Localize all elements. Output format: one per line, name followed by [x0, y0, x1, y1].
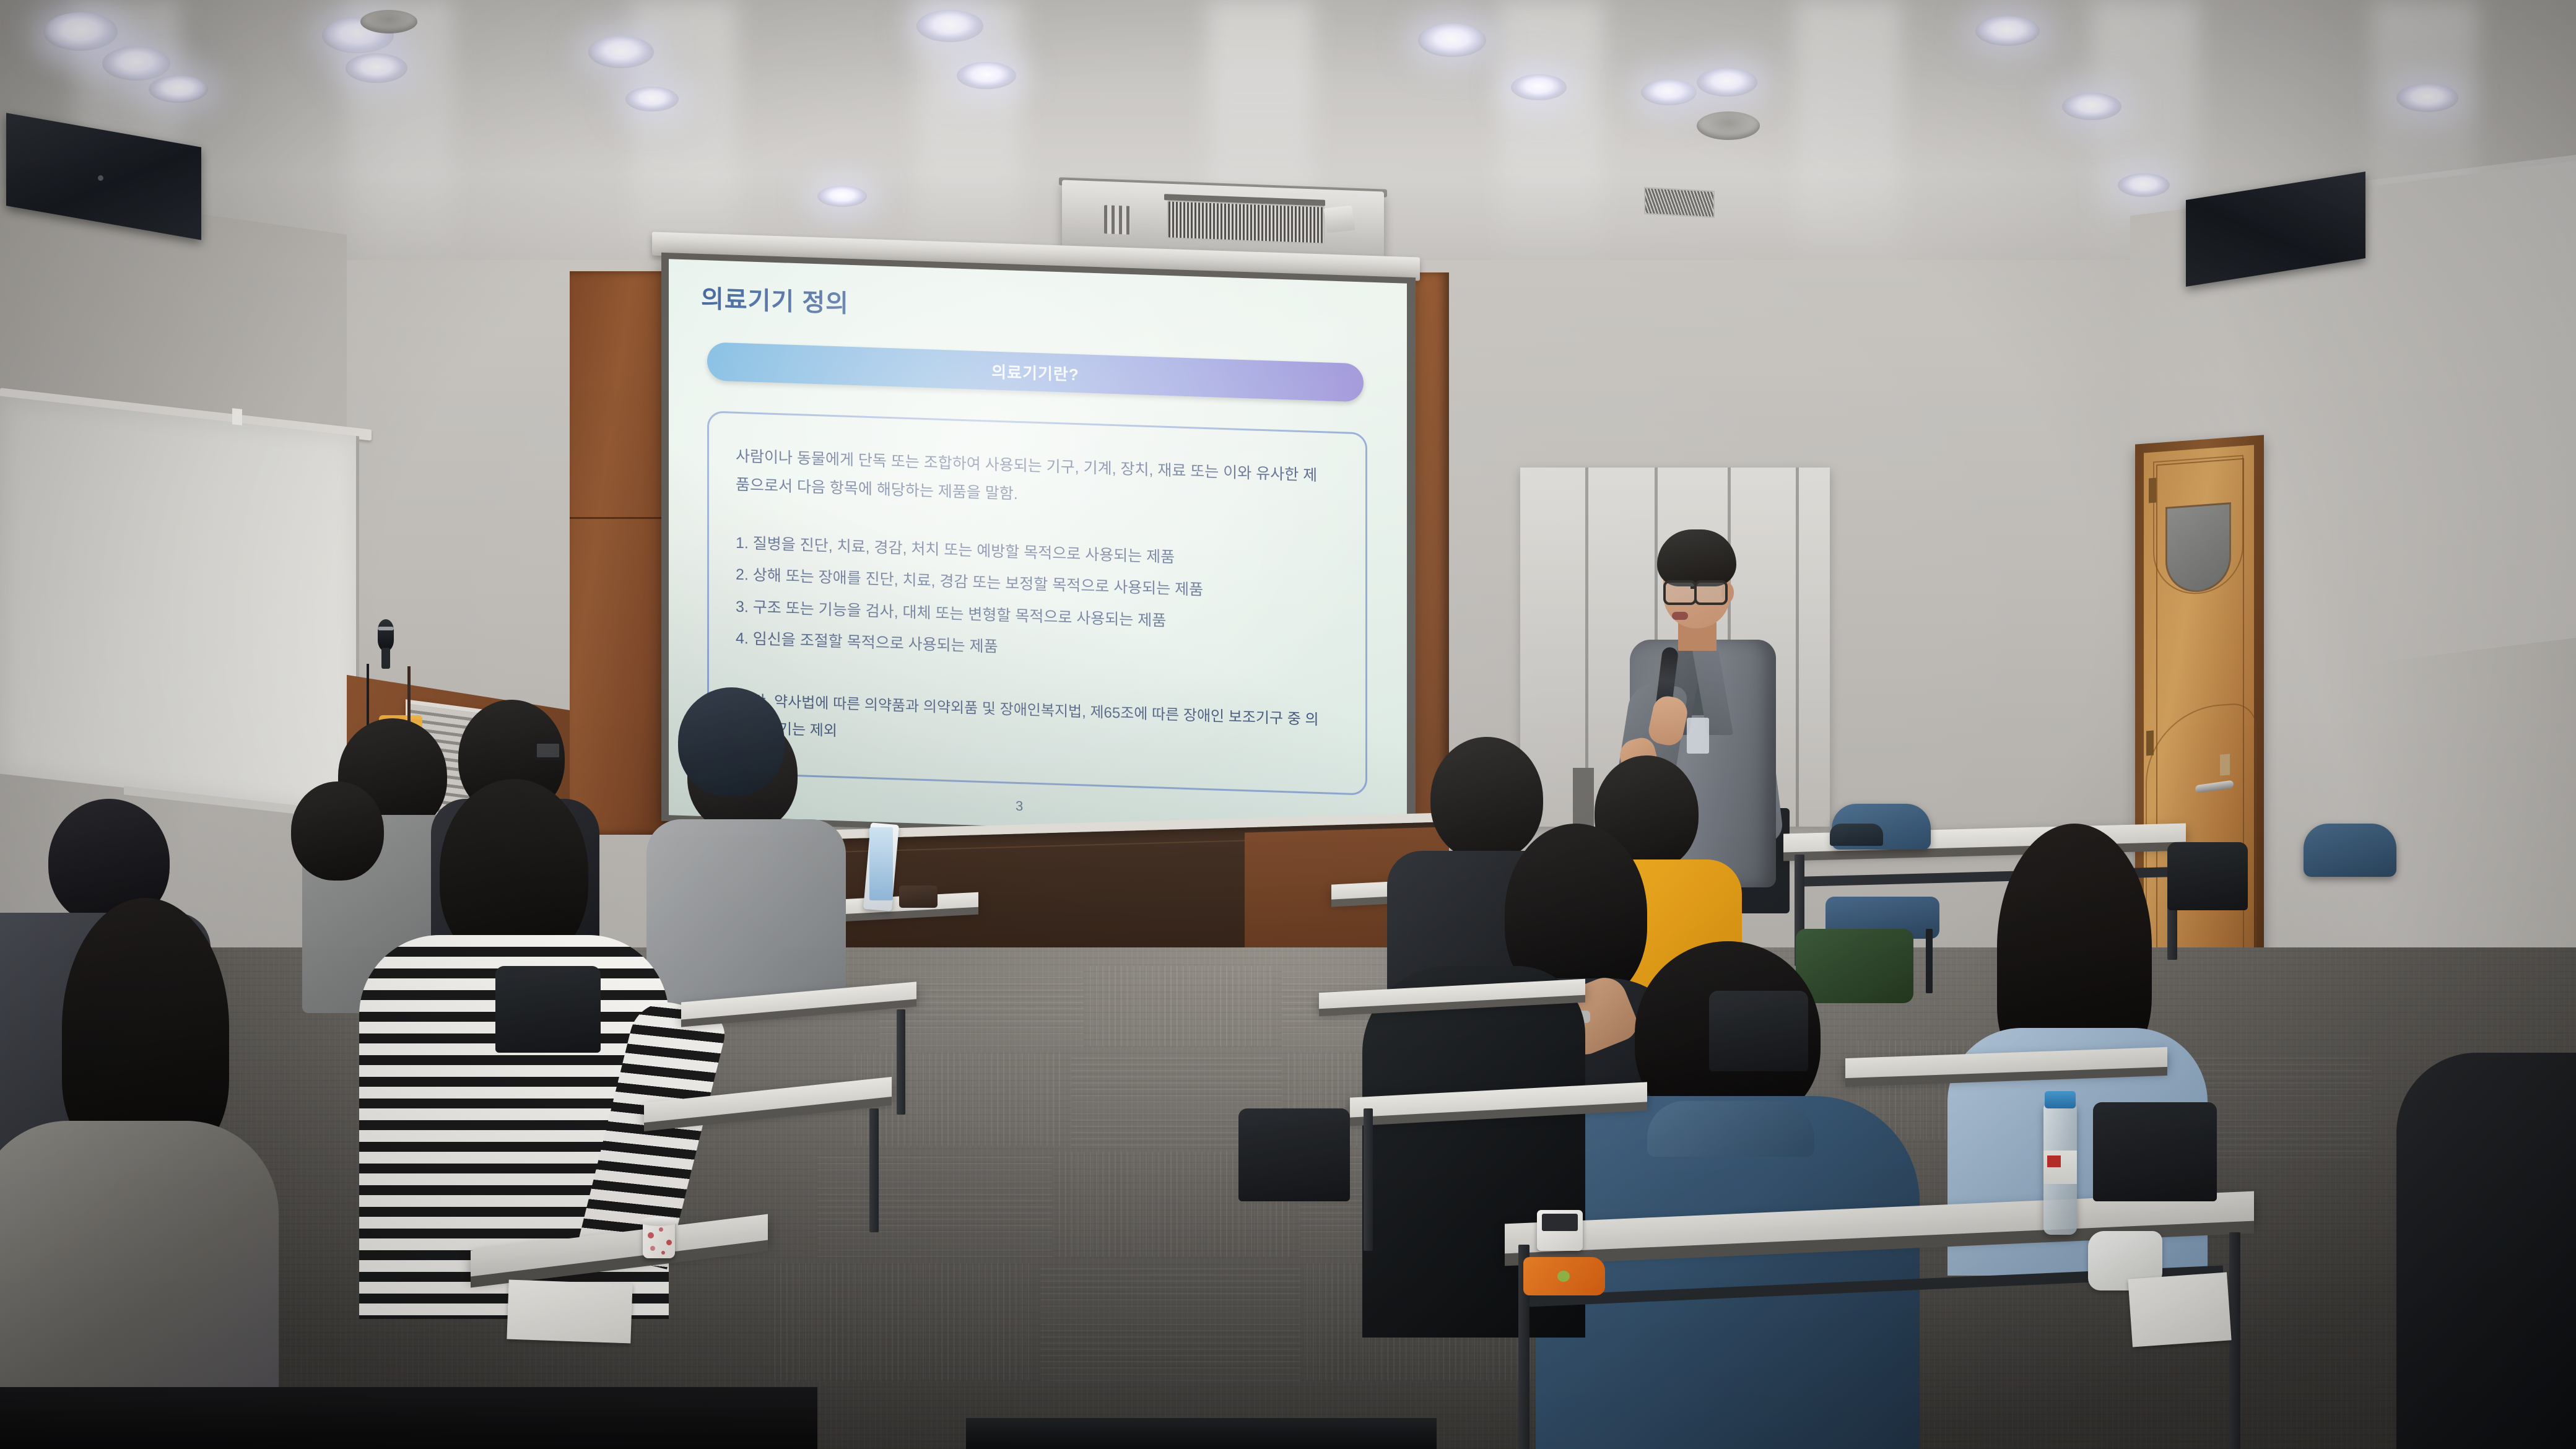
- slide-page-number: 3: [1016, 798, 1023, 814]
- light-beam: [632, 0, 737, 272]
- cup-dot: [661, 1251, 665, 1255]
- blue-chair-back[interactable]: [2304, 824, 2396, 877]
- door-hinge: [2149, 478, 2156, 503]
- foreground-shadow: [966, 1418, 1437, 1449]
- wood-column-left: [570, 271, 672, 835]
- ceiling-downlight: [2062, 93, 2121, 120]
- door-glass-window: [2165, 502, 2231, 594]
- cabinet-seam: [1796, 468, 1799, 827]
- tablet-screen: [869, 827, 893, 900]
- cabinet-panel-dark: [1573, 768, 1594, 830]
- cup-dot: [648, 1232, 654, 1238]
- slide-title: 의료기기 정의: [701, 279, 849, 320]
- cup-dot: [650, 1246, 655, 1251]
- water-bottle-cap[interactable]: [2045, 1091, 2076, 1108]
- attendee-head: [291, 781, 384, 881]
- eyeglasses-icon: [1663, 580, 1697, 605]
- whiteboard-clip: [232, 408, 242, 425]
- attendee-body: [2396, 1053, 2576, 1449]
- paper-sheet: [507, 1280, 632, 1344]
- light-beam: [1796, 0, 1901, 272]
- presenter-hair: [1657, 529, 1736, 586]
- green-bag: [1796, 929, 1913, 1003]
- ceiling-downlight: [817, 186, 867, 207]
- desk-leg: [2229, 1232, 2240, 1449]
- cup-dot: [659, 1227, 663, 1232]
- dark-chair[interactable]: [495, 966, 601, 1053]
- eyeglasses-icon: [534, 741, 562, 760]
- desk-leg: [897, 1009, 905, 1115]
- paper-cup-rim: [640, 1217, 678, 1226]
- ceiling-downlight: [1641, 79, 1697, 105]
- light-beam: [1499, 0, 1604, 272]
- water-bottle-label-mark: [2047, 1155, 2061, 1167]
- smartphone-screen: [1542, 1214, 1578, 1231]
- chair-leg: [1926, 929, 1933, 993]
- ceiling-downlight: [1511, 74, 1567, 100]
- paper-sheet: [2128, 1273, 2231, 1347]
- ceiling-downlight: [916, 10, 983, 42]
- presenter-badge: [1687, 718, 1709, 754]
- microphone-ring: [378, 627, 394, 630]
- whiteboard: [0, 396, 359, 814]
- dark-chair[interactable]: [1709, 991, 1808, 1071]
- seminar-room-photo: 의료기기 정의 의료기기란? 사람이나 동물에게 단독 또는 조합하여 사용되는…: [0, 0, 2576, 1449]
- ceiling-downlight: [1975, 16, 2040, 46]
- ceiling-downlight: [149, 76, 208, 103]
- ceiling-downlight: [346, 53, 407, 83]
- ac-side-vent: [1104, 205, 1130, 235]
- ceiling-downlight: [102, 46, 170, 80]
- ceiling-vent: [1644, 187, 1715, 218]
- speaker-driver-dot: [98, 175, 103, 181]
- microphone-icon: [378, 619, 394, 651]
- ceiling-downlight: [2118, 173, 2170, 197]
- cup-dot: [666, 1240, 672, 1245]
- cloth-dot: [1557, 1271, 1570, 1282]
- slide-item-list: 1. 질병을 진단, 치료, 경감, 처치 또는 예방할 목적으로 사용되는 제…: [736, 528, 1324, 674]
- wood-column-seam: [570, 517, 672, 519]
- dark-chair[interactable]: [2093, 1102, 2217, 1201]
- ceiling-downlight: [43, 12, 118, 51]
- foreground-shadow: [0, 1387, 817, 1449]
- ceiling-downlight: [588, 36, 654, 68]
- ceiling-downlight: [957, 62, 1016, 89]
- eyeglasses-icon: [1694, 580, 1728, 605]
- ac-grille: [1167, 200, 1325, 244]
- desk-leg: [1364, 1108, 1373, 1251]
- attendee-body: [646, 819, 846, 1005]
- ac-air-flap: [1323, 206, 1355, 233]
- denim-collar: [1647, 1101, 1814, 1157]
- desk-clock: [899, 885, 938, 908]
- microphone-body: [381, 648, 390, 669]
- slide-banner: 의료기기란?: [707, 342, 1364, 402]
- door-hinge: [2146, 731, 2154, 756]
- ceiling-downlight: [1697, 68, 1757, 97]
- door-lock[interactable]: [2220, 754, 2230, 775]
- slide-banner-label: 의료기기란?: [991, 359, 1079, 385]
- dark-chair[interactable]: [1238, 1108, 1350, 1201]
- ceiling-recess: [1697, 111, 1760, 140]
- dark-chair[interactable]: [2167, 842, 2248, 910]
- ceiling-downlight: [625, 87, 679, 111]
- eyeglasses-bridge: [1690, 586, 1697, 589]
- attendee-hair: [62, 898, 229, 1158]
- desk-leg: [869, 1108, 879, 1232]
- ceiling-downlight: [1418, 24, 1486, 57]
- cap-on-desk: [1830, 824, 1883, 846]
- presenter-mouth: [1672, 612, 1688, 620]
- ceiling-recess: [360, 10, 417, 33]
- attendee-head: [678, 687, 785, 796]
- ceiling-downlight: [2396, 84, 2458, 112]
- light-beam: [916, 0, 1022, 272]
- attendee-head: [1430, 737, 1543, 861]
